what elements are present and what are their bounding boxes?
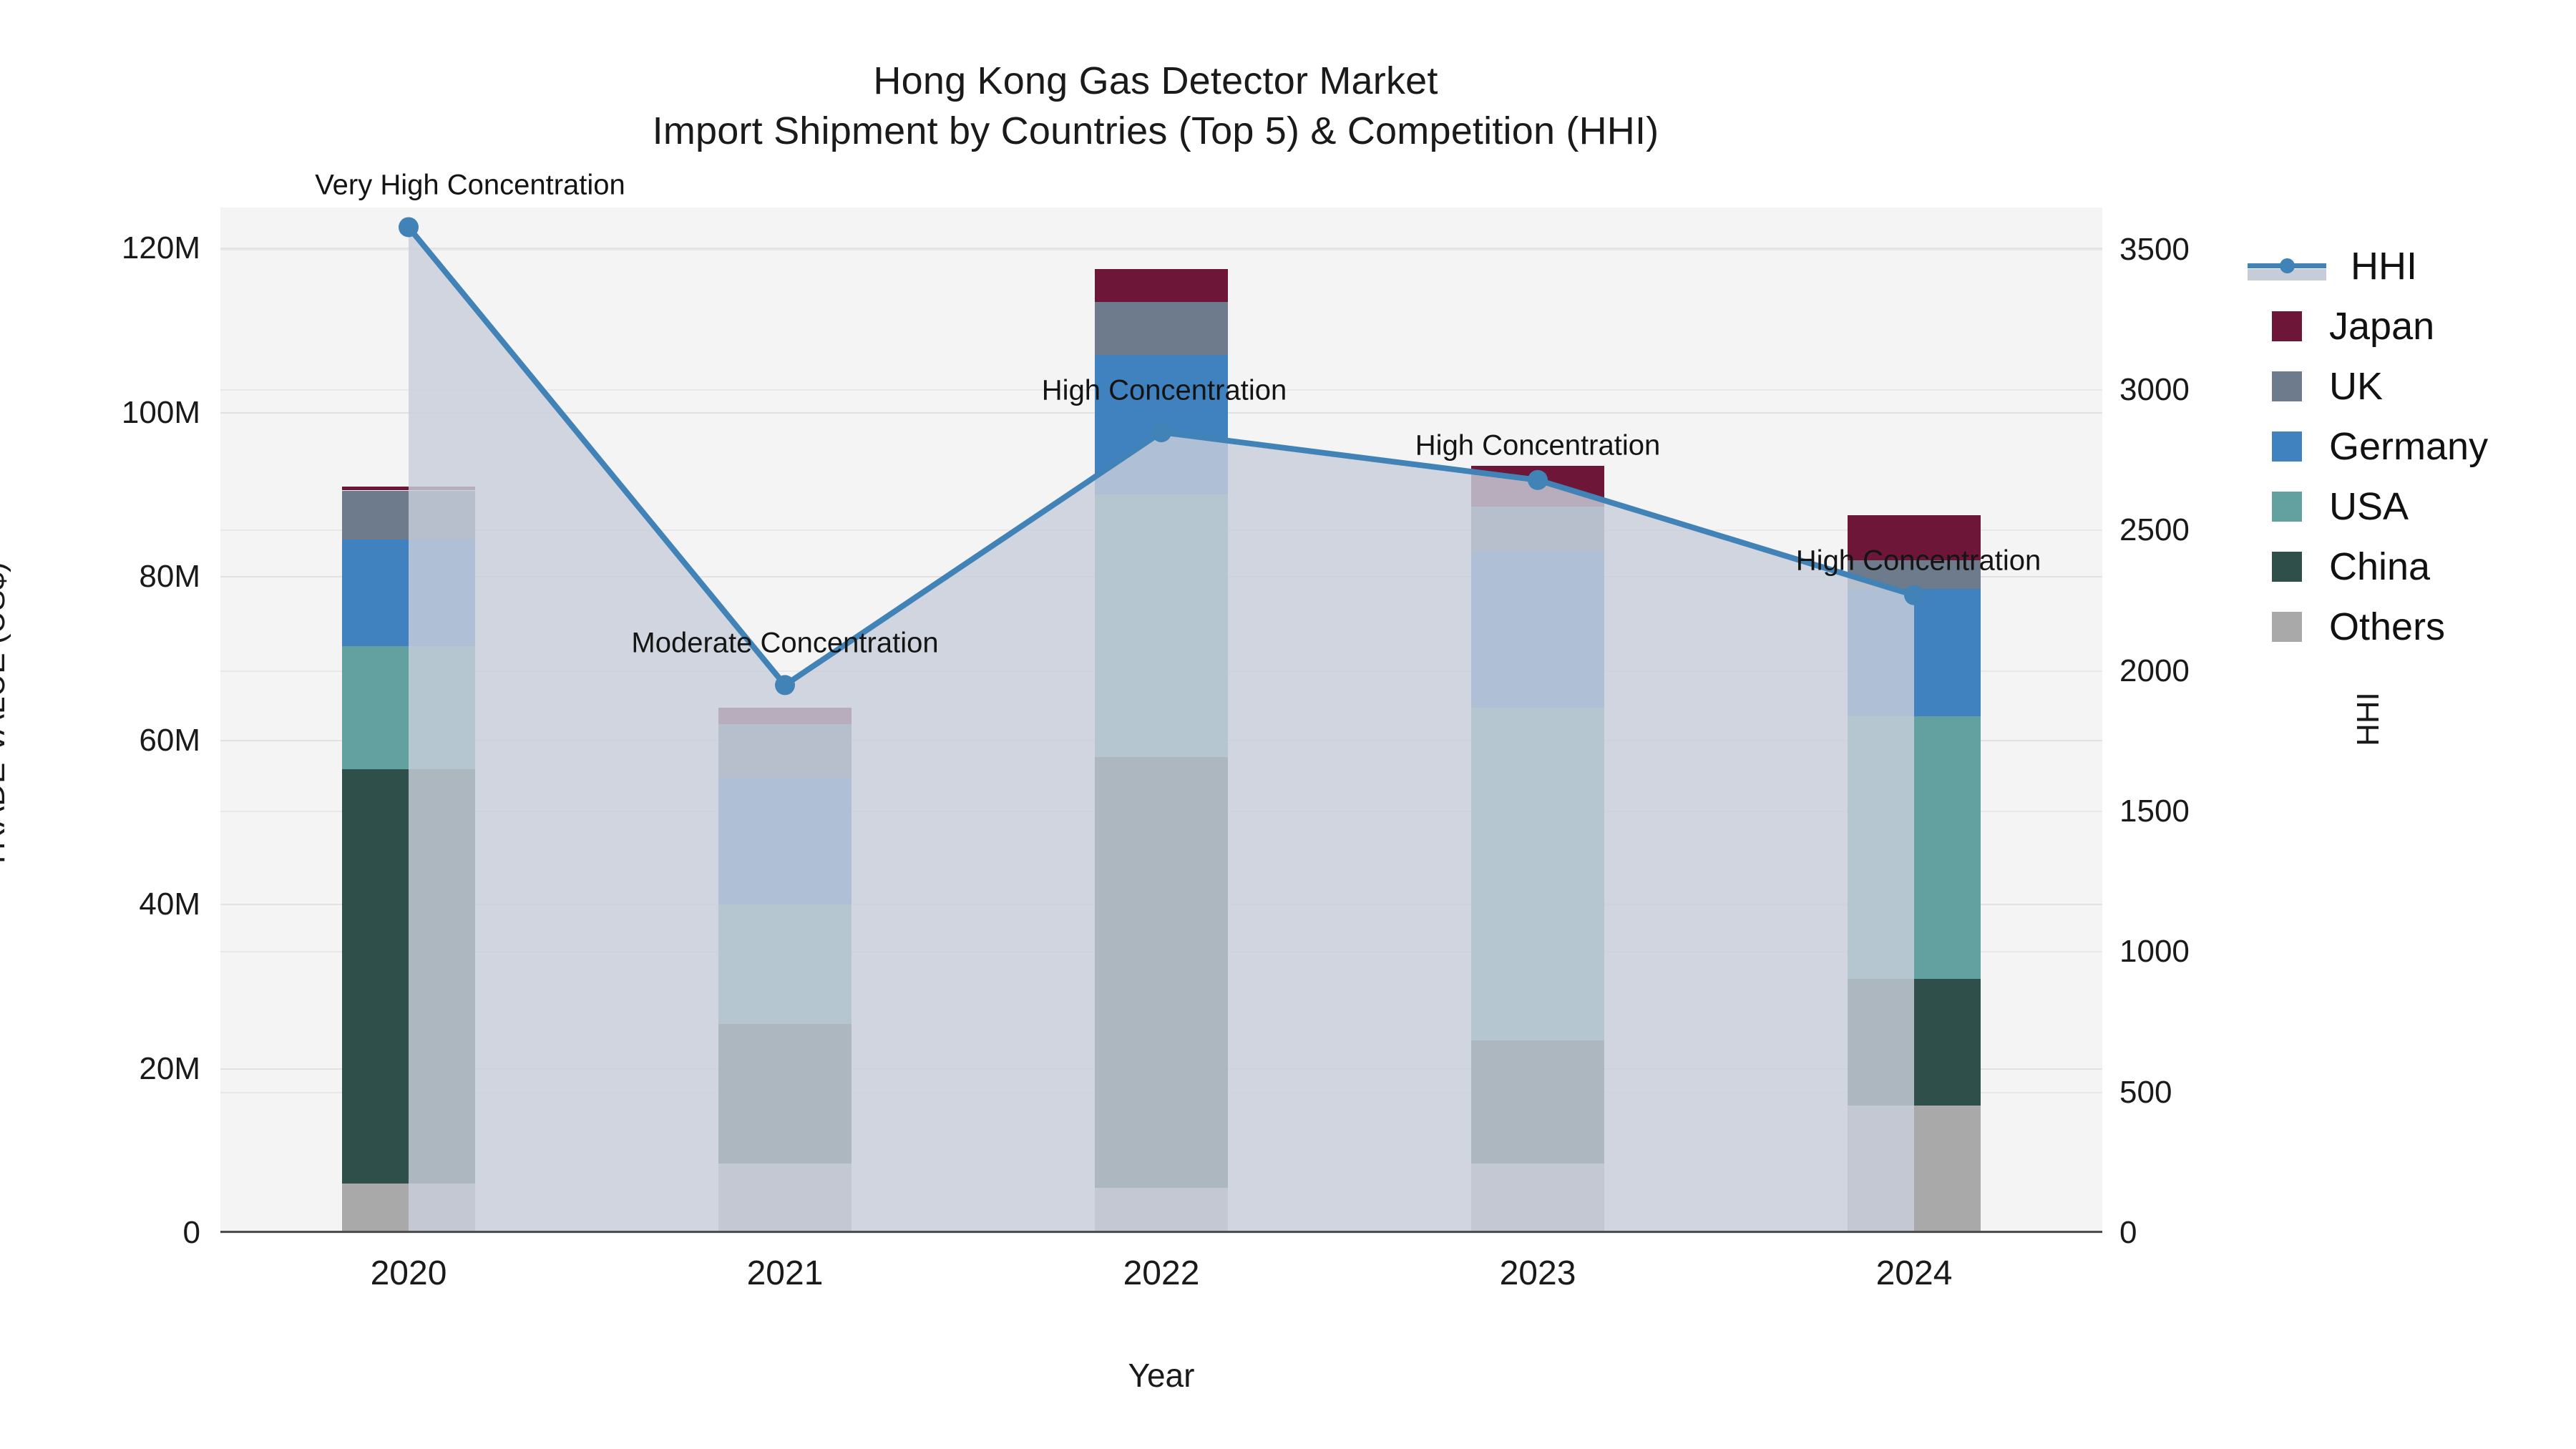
legend-label: Japan (2329, 307, 2434, 346)
legend-swatch-japan-icon (2272, 311, 2302, 341)
legend-swatch-others-icon (2272, 612, 2302, 642)
hhi-marker-2021[interactable] (775, 675, 795, 695)
legend-item-others[interactable]: Others (2272, 597, 2488, 657)
legend-item-germany[interactable]: Germany (2272, 416, 2488, 477)
hhi-marker-2024[interactable] (1904, 585, 1924, 605)
chart-subtitle: Import Shipment by Countries (Top 5) & C… (0, 106, 2311, 156)
chart-page: Hong Kong Gas Detector Market Import Shi… (0, 0, 2576, 1449)
y-tick-left: 0 (29, 1215, 200, 1251)
hhi-marker-2023[interactable] (1528, 470, 1548, 490)
x-axis-title: Year (220, 1356, 2102, 1395)
y-axis-title-left: TRADE VALUE (US$) (0, 501, 12, 930)
annotation-2023: High Concentration (1415, 429, 1660, 462)
x-tick-2024: 2024 (1876, 1254, 1953, 1293)
x-tick-2022: 2022 (1123, 1254, 1200, 1293)
annotation-2020: Very High Concentration (315, 170, 625, 202)
legend-label: UK (2329, 367, 2383, 406)
legend-item-uk[interactable]: UK (2272, 356, 2488, 416)
legend-label: HHI (2351, 247, 2417, 286)
y-tick-right: 500 (2119, 1075, 2291, 1111)
chart-title: Hong Kong Gas Detector Market (0, 56, 2311, 106)
y-tick-right: 0 (2119, 1215, 2291, 1251)
annotation-2024: High Concentration (1796, 545, 2041, 577)
legend-label: Others (2329, 608, 2445, 646)
x-tick-2023: 2023 (1500, 1254, 1576, 1293)
legend-item-china[interactable]: China (2272, 537, 2488, 597)
legend-item-hhi[interactable]: HHI (2272, 236, 2488, 296)
x-tick-2021: 2021 (747, 1254, 824, 1293)
legend-item-japan[interactable]: Japan (2272, 296, 2488, 356)
y-tick-left: 40M (29, 887, 200, 922)
legend-label: China (2329, 547, 2430, 586)
legend: HHIJapanUKGermanyUSAChinaOthers (2272, 236, 2488, 657)
legend-swatch-china-icon (2272, 552, 2302, 582)
legend-item-usa[interactable]: USA (2272, 477, 2488, 537)
y-tick-left: 120M (29, 230, 200, 266)
annotation-2021: Moderate Concentration (631, 628, 938, 660)
hhi-marker-2022[interactable] (1151, 422, 1171, 442)
y-tick-right: 1500 (2119, 794, 2291, 829)
hhi-line-swatch-icon (2248, 250, 2326, 282)
legend-label: Germany (2329, 427, 2488, 466)
y-tick-right: 2000 (2119, 653, 2291, 689)
y-tick-right: 1000 (2119, 934, 2291, 970)
annotation-2022: High Concentration (1042, 375, 1287, 407)
x-axis-line (220, 1231, 2102, 1233)
legend-swatch-usa-icon (2272, 492, 2302, 522)
hhi-line-series (220, 208, 2102, 1233)
legend-label: USA (2329, 487, 2409, 526)
y-tick-left: 20M (29, 1051, 200, 1087)
y-tick-left: 60M (29, 723, 200, 758)
y-tick-right: 2500 (2119, 512, 2291, 548)
chart-title-block: Hong Kong Gas Detector Market Import Shi… (0, 56, 2311, 156)
y-tick-left: 80M (29, 559, 200, 595)
x-tick-2020: 2020 (371, 1254, 447, 1293)
hhi-marker-2020[interactable] (399, 217, 419, 237)
legend-swatch-germany-icon (2272, 431, 2302, 462)
y-tick-right: 3000 (2119, 372, 2291, 408)
y-tick-left: 100M (29, 395, 200, 431)
legend-swatch-uk-icon (2272, 371, 2302, 401)
plot-area: Very High ConcentrationModerate Concentr… (220, 208, 2102, 1233)
